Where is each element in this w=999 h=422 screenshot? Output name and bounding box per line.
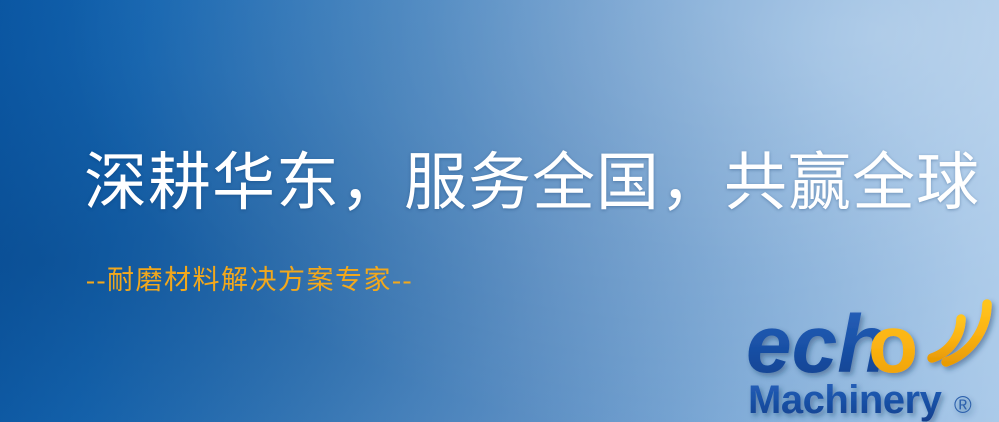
logo-trademark-symbol: ® xyxy=(954,392,972,419)
echo-machinery-logo: ech o Machinery ® xyxy=(746,296,999,422)
echo-wave-icon xyxy=(932,304,987,362)
banner-subtitle: --耐磨材料解决方案专家-- xyxy=(86,266,413,296)
logo-wordmark-blue: ech xyxy=(746,299,887,390)
logo-artwork: ech o Machinery ® xyxy=(746,296,999,422)
logo-wordmark-gold: o xyxy=(868,299,918,390)
hero-banner: 深耕华东，服务全国，共赢全球 --耐磨材料解决方案专家-- xyxy=(0,0,999,422)
logo-tagline: Machinery xyxy=(748,378,943,422)
banner-headline: 深耕华东，服务全国，共赢全球 xyxy=(84,152,980,215)
